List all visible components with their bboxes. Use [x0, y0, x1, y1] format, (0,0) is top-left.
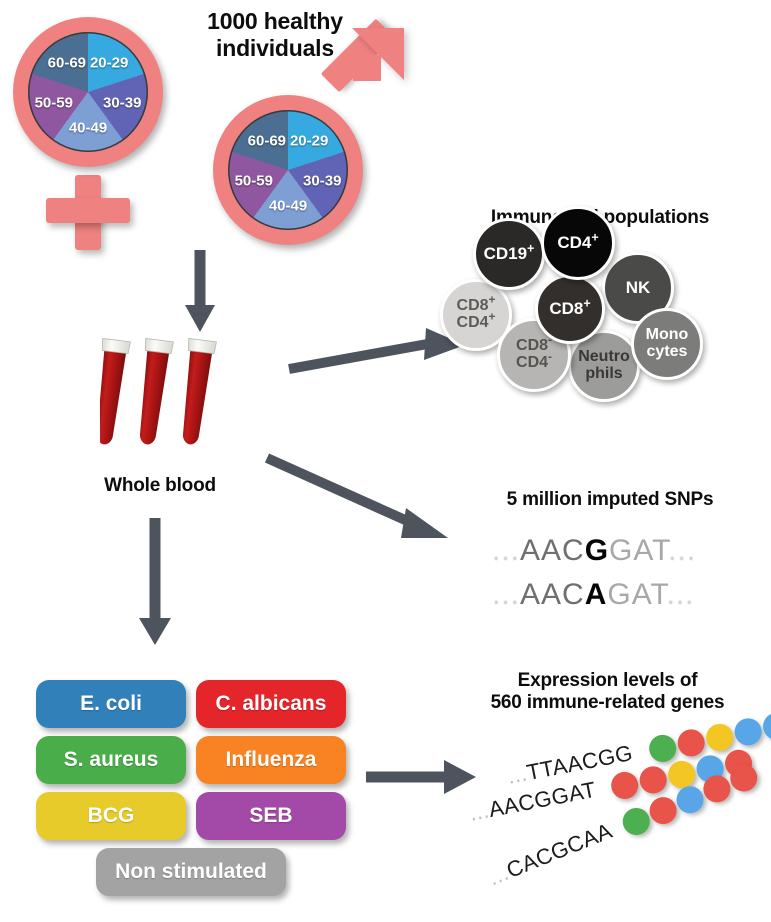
strand-sequence-ellipsis: ... — [505, 761, 529, 789]
immune-cell-cd19: CD19+ — [473, 218, 545, 290]
immune-cell-label: CD8-CD4- — [516, 338, 552, 371]
immune-cell-cd4: CD4+ — [541, 206, 615, 280]
expression-bead — [675, 727, 707, 759]
immune-cell-label: CD8+CD4+ — [457, 298, 496, 331]
expression-bead — [704, 721, 736, 753]
strand-sequence: ...CACGCAA — [485, 818, 616, 891]
expression-bead — [732, 716, 764, 748]
immune-cell-label: Neutrophils — [578, 349, 630, 382]
immune-cell-label: CD4+ — [557, 234, 598, 252]
figure-canvas: 1000 healthy individuals 20-2930-3940-49… — [0, 0, 771, 922]
expression-bead — [761, 710, 771, 742]
strand-sequence-ellipsis: ... — [485, 860, 512, 891]
strand-sequence-ellipsis: ... — [467, 798, 491, 826]
expression-bead — [647, 732, 679, 764]
expression-bead — [637, 764, 669, 796]
immune-cell-label: CD19+ — [484, 245, 535, 263]
immune-cell-mono-cytes: Monocytes — [631, 308, 703, 380]
immune-cell-cd8: CD8+ — [535, 274, 605, 344]
expression-strands-group: ...TTAACGG...AACGGAT...CACGCAA — [0, 0, 771, 922]
immune-cell-label: Monocytes — [646, 327, 689, 360]
immune-cell-label: CD8+ — [549, 300, 590, 318]
expression-bead — [666, 758, 698, 790]
expression-bead — [609, 769, 641, 801]
immune-cell-label: NK — [626, 279, 651, 297]
